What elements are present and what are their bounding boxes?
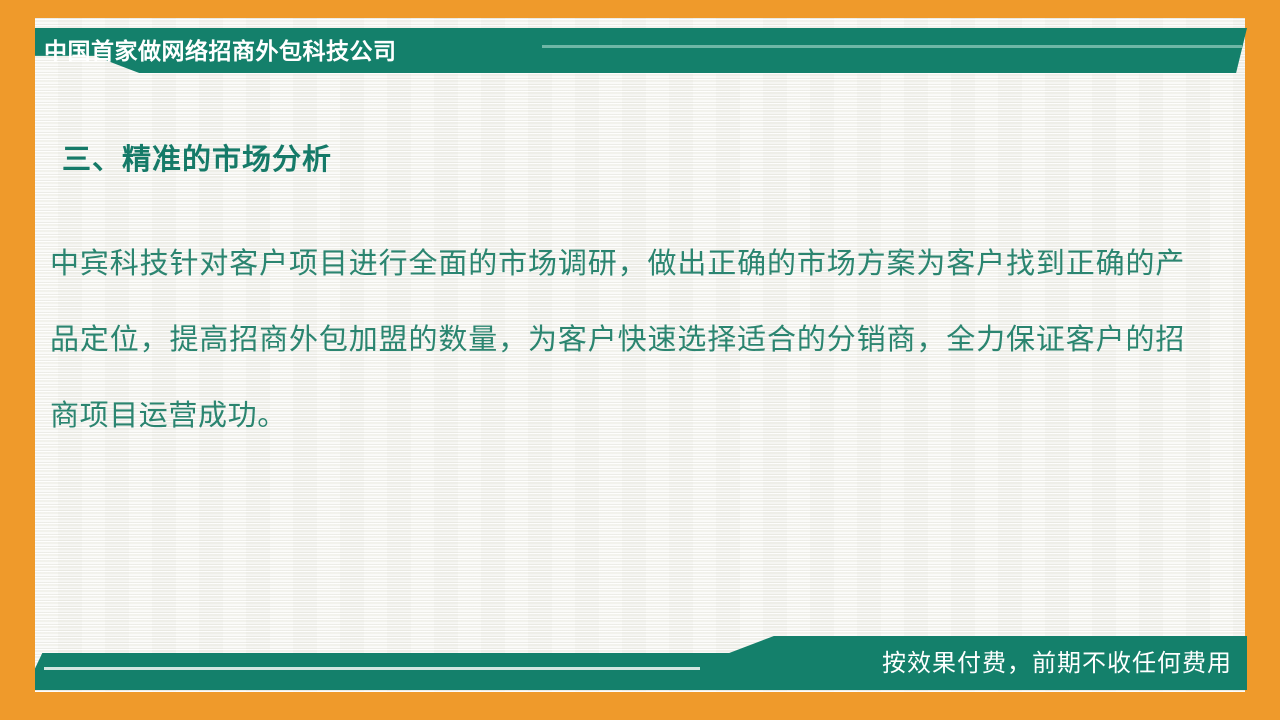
- header-title: 中国首家做网络招商外包科技公司: [44, 33, 397, 69]
- footer-left-strip: [35, 653, 765, 690]
- footer-tagline: 按效果付费，前期不收任何费用: [882, 645, 1232, 683]
- section-heading: 三、精准的市场分析: [62, 136, 332, 178]
- header-accent-line: [542, 45, 1242, 48]
- presentation-slide: 中国首家做网络招商外包科技公司 三、精准的市场分析 中宾科技针对客户项目进行全面…: [0, 0, 1280, 720]
- footer-left-accent-line: [44, 667, 744, 670]
- body-paragraph: 中宾科技针对客户项目进行全面的市场调研，做出正确的市场方案为客户找到正确的产品定…: [50, 226, 1185, 454]
